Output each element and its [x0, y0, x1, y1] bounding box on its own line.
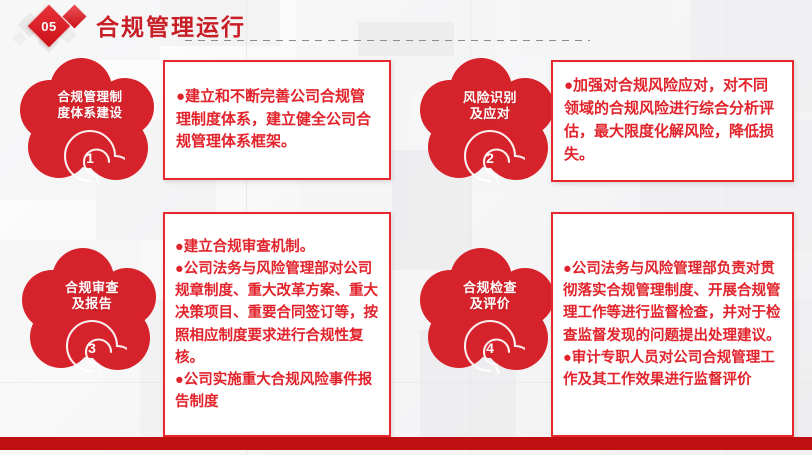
panel-2-paragraph-1: ●加强对合规风险应对，对不同领域的合规风险进行综合分析评估，最大限度化解风险，降…: [564, 75, 781, 166]
badge-number-4: 4: [455, 340, 525, 356]
slide-header: 05 合规管理运行: [0, 0, 812, 52]
panel-4-paragraph-2: ●审计专职人员对公司合规管理工作及其工作效果进行监督评价: [563, 347, 782, 391]
badge-label-2: 风险识别 及应对: [420, 90, 560, 123]
badge-cloud-4: 合规检查 及评价 4: [420, 248, 560, 373]
badge-label-3-line1: 合规审查: [65, 280, 119, 295]
badge-spiral-4: 4: [455, 318, 525, 374]
badge-label-2-line2: 及应对: [470, 106, 511, 121]
text-panel-3: ●建立合规审查机制。 ●公司法务与风险管理部对公司规章制度、重大改革方案、重大决…: [163, 212, 391, 437]
badge-label-1-line1: 合规管理制: [57, 90, 122, 104]
panel-1-paragraph-1: ●建立和不断完善公司合规管理制度体系，建立健全公司合规管理体系框架。: [176, 86, 378, 154]
text-panel-2: ●加强对合规风险应对，对不同领域的合规风险进行综合分析评估，最大限度化解风险，降…: [551, 60, 794, 182]
badge-number-2: 2: [455, 150, 525, 166]
section-logo: 05: [14, 2, 88, 52]
badge-label-1: 合规管理制 度体系建设: [20, 90, 160, 121]
badge-label-4-line2: 及评价: [470, 296, 511, 311]
badge-cloud-2: 风险识别 及应对 2: [420, 58, 560, 183]
section-number: 05: [34, 11, 64, 41]
badge-label-4-line1: 合规检查: [463, 280, 517, 295]
badge-number-3: 3: [57, 340, 127, 356]
badge-label-2-line1: 风险识别: [463, 90, 517, 105]
badge-label-3: 合规审查 及报告: [22, 280, 162, 313]
badge-spiral-3: 3: [57, 318, 127, 374]
header-divider: [185, 40, 590, 41]
panel-3-paragraph-3: ●公司实施重大合规风险事件报告制度: [175, 369, 379, 413]
badge-cloud-3: 合规审查 及报告 3: [22, 248, 162, 373]
slide-root: 05 合规管理运行 合规管理制 度体系建设 1: [0, 0, 812, 455]
badge-label-3-line2: 及报告: [72, 296, 113, 311]
badge-number-1: 1: [55, 150, 125, 166]
text-panel-1: ●建立和不断完善公司合规管理制度体系，建立健全公司合规管理体系框架。: [163, 60, 391, 180]
badge-label-1-line2: 度体系建设: [57, 106, 122, 120]
footer-bar: [0, 437, 812, 450]
badge-label-4: 合规检查 及评价: [420, 280, 560, 313]
badge-cloud-1: 合规管理制 度体系建设 1: [20, 58, 160, 183]
badge-spiral-2: 2: [455, 128, 525, 184]
page-title: 合规管理运行: [96, 8, 246, 42]
panel-4-paragraph-1: ●公司法务与风险管理部负责对贯彻落实合规管理制度、开展合规管理工作等进行监督检查…: [563, 258, 782, 346]
panel-3-paragraph-2: ●公司法务与风险管理部对公司规章制度、重大改革方案、重大决策项目、重要合同签订等…: [175, 258, 379, 368]
panel-3-paragraph-1: ●建立合规审查机制。: [175, 236, 379, 258]
text-panel-4: ●公司法务与风险管理部负责对贯彻落实合规管理制度、开展合规管理工作等进行监督检查…: [551, 212, 794, 437]
badge-spiral-1: 1: [55, 128, 125, 184]
